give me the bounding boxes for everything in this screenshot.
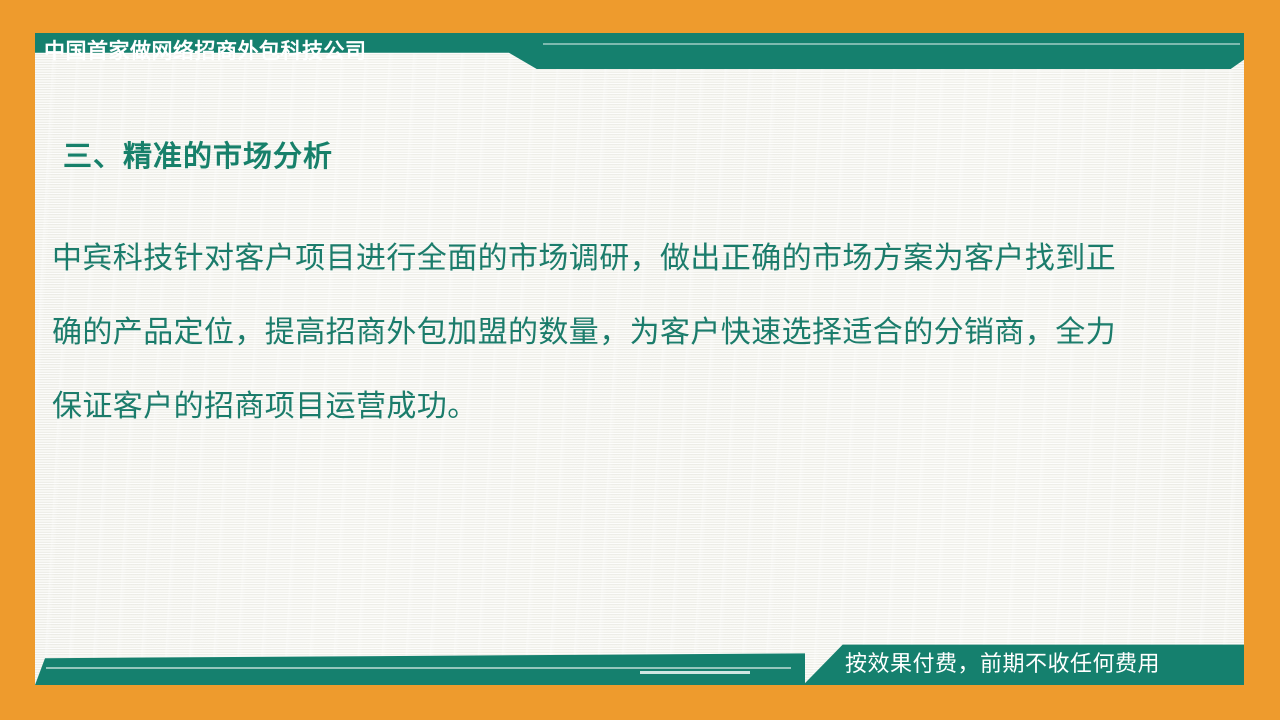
footer-tagline: 按效果付费，前期不收任何费用 — [845, 650, 1160, 680]
footer-hairline-divider — [46, 667, 791, 669]
body-line-2: 确的产品定位，提高招商外包加盟的数量，为客户快速选择适合的分销商，全力 — [52, 296, 1192, 370]
slide-canvas: 中国首家做网络招商外包科技公司 三、精准的市场分析 中宾科技针对客户项目进行全面… — [0, 0, 1280, 720]
header-hairline-divider — [543, 43, 1240, 45]
body-paragraph: 中宾科技针对客户项目进行全面的市场调研，做出正确的市场方案为客户找到正 确的产品… — [52, 222, 1192, 444]
body-line-1: 中宾科技针对客户项目进行全面的市场调研，做出正确的市场方案为客户找到正 — [52, 222, 1192, 296]
footer-accent-stroke — [640, 671, 750, 674]
body-line-3: 保证客户的招商项目运营成功。 — [52, 370, 1192, 444]
company-tagline-title: 中国首家做网络招商外包科技公司 — [44, 36, 524, 66]
section-heading: 三、精准的市场分析 — [63, 133, 333, 175]
